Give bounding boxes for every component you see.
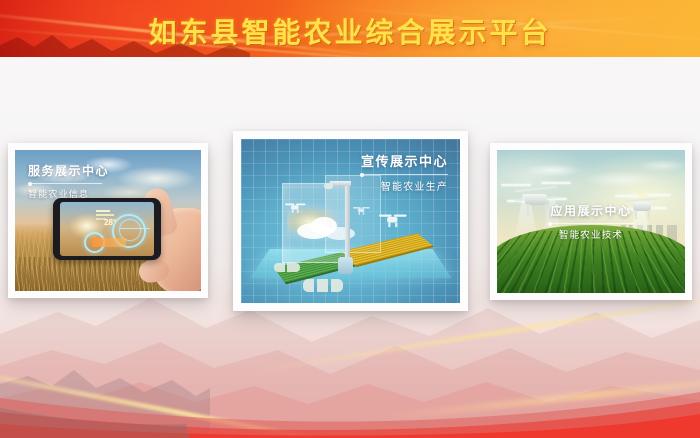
water-tank bbox=[338, 257, 353, 274]
divider bbox=[28, 183, 102, 184]
hay-rolls bbox=[303, 279, 343, 292]
sensor-head-icon bbox=[324, 183, 333, 189]
card-promotion-title: 宣传展示中心 bbox=[360, 151, 448, 170]
divider bbox=[360, 174, 448, 175]
hay-rolls bbox=[274, 263, 300, 272]
card-image-promotion: 宣传展示中心 智能农业生产 bbox=[241, 139, 460, 303]
card-application-subtitle: 智能农业技术 bbox=[497, 227, 685, 241]
card-image-service: 28° 服务展示中心 智能农业信息 bbox=[15, 150, 201, 291]
hud-line bbox=[120, 228, 150, 229]
card-promotion-display-center[interactable]: 宣传展示中心 智能农业生产 bbox=[233, 131, 468, 311]
hud-temperature: 28° bbox=[104, 218, 116, 227]
card-service-text: 服务展示中心 智能农业信息 bbox=[28, 162, 109, 200]
card-image-application: 应用展示中心 智能农业技术 bbox=[497, 150, 685, 293]
divider bbox=[548, 223, 634, 224]
phone-screen: 28° bbox=[60, 202, 154, 256]
header-banner: 如东县智能农业综合展示平台 bbox=[0, 0, 700, 57]
card-promotion-text: 宣传展示中心 智能农业生产 bbox=[360, 151, 448, 193]
card-application-title: 应用展示中心 bbox=[497, 202, 685, 219]
page-root: 如东县智能农业综合展示平台 bbox=[0, 0, 700, 438]
bottom-red-wave bbox=[0, 368, 700, 438]
card-service-subtitle: 智能农业信息 bbox=[28, 187, 109, 200]
card-application-text: 应用展示中心 智能农业技术 bbox=[497, 202, 685, 241]
smartphone-device: 28° bbox=[53, 198, 161, 260]
hud-panel bbox=[92, 238, 126, 247]
page-title: 如东县智能农业综合展示平台 bbox=[0, 11, 700, 51]
card-application-display-center[interactable]: 应用展示中心 智能农业技术 bbox=[490, 143, 692, 300]
card-promotion-subtitle: 智能农业生产 bbox=[360, 178, 448, 193]
card-service-display-center[interactable]: 28° 服务展示中心 智能农业信息 bbox=[8, 143, 208, 298]
card-service-title: 服务展示中心 bbox=[28, 162, 109, 179]
cloud bbox=[325, 227, 355, 240]
